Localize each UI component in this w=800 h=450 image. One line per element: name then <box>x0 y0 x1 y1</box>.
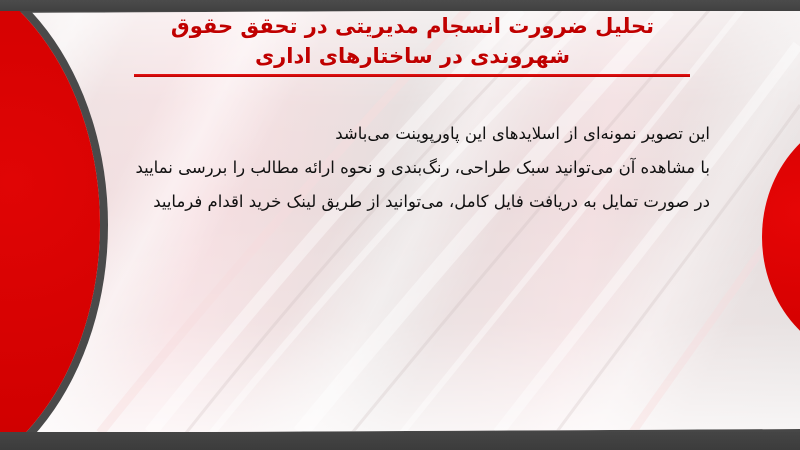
top-dark-bar <box>0 0 800 11</box>
body-line-2: با مشاهده آن می‌توانید سبک طراحی، رنگ‌بن… <box>120 156 710 180</box>
presentation-slide: تحلیل ضرورت انسجام مدیریتی در تحقق حقوق … <box>0 0 800 450</box>
canvas-sheen-overlay <box>0 9 800 433</box>
slide-canvas <box>0 9 800 433</box>
body-line-3: در صورت تمایل به دریافت فایل کامل، می‌تو… <box>120 190 710 214</box>
body-line-1: این تصویر نمونه‌ای از اسلایدهای این پاور… <box>120 122 710 146</box>
slide-title: تحلیل ضرورت انسجام مدیریتی در تحقق حقوق … <box>130 12 695 72</box>
bottom-dark-bar <box>0 432 800 450</box>
right-red-ellipse-decoration <box>762 113 800 361</box>
title-underline-rule <box>134 74 690 77</box>
background-ribbon-streaks <box>0 9 800 433</box>
slide-body-block: این تصویر نمونه‌ای از اسلایدهای این پاور… <box>120 122 710 214</box>
slide-title-block: تحلیل ضرورت انسجام مدیریتی در تحقق حقوق … <box>130 12 695 72</box>
